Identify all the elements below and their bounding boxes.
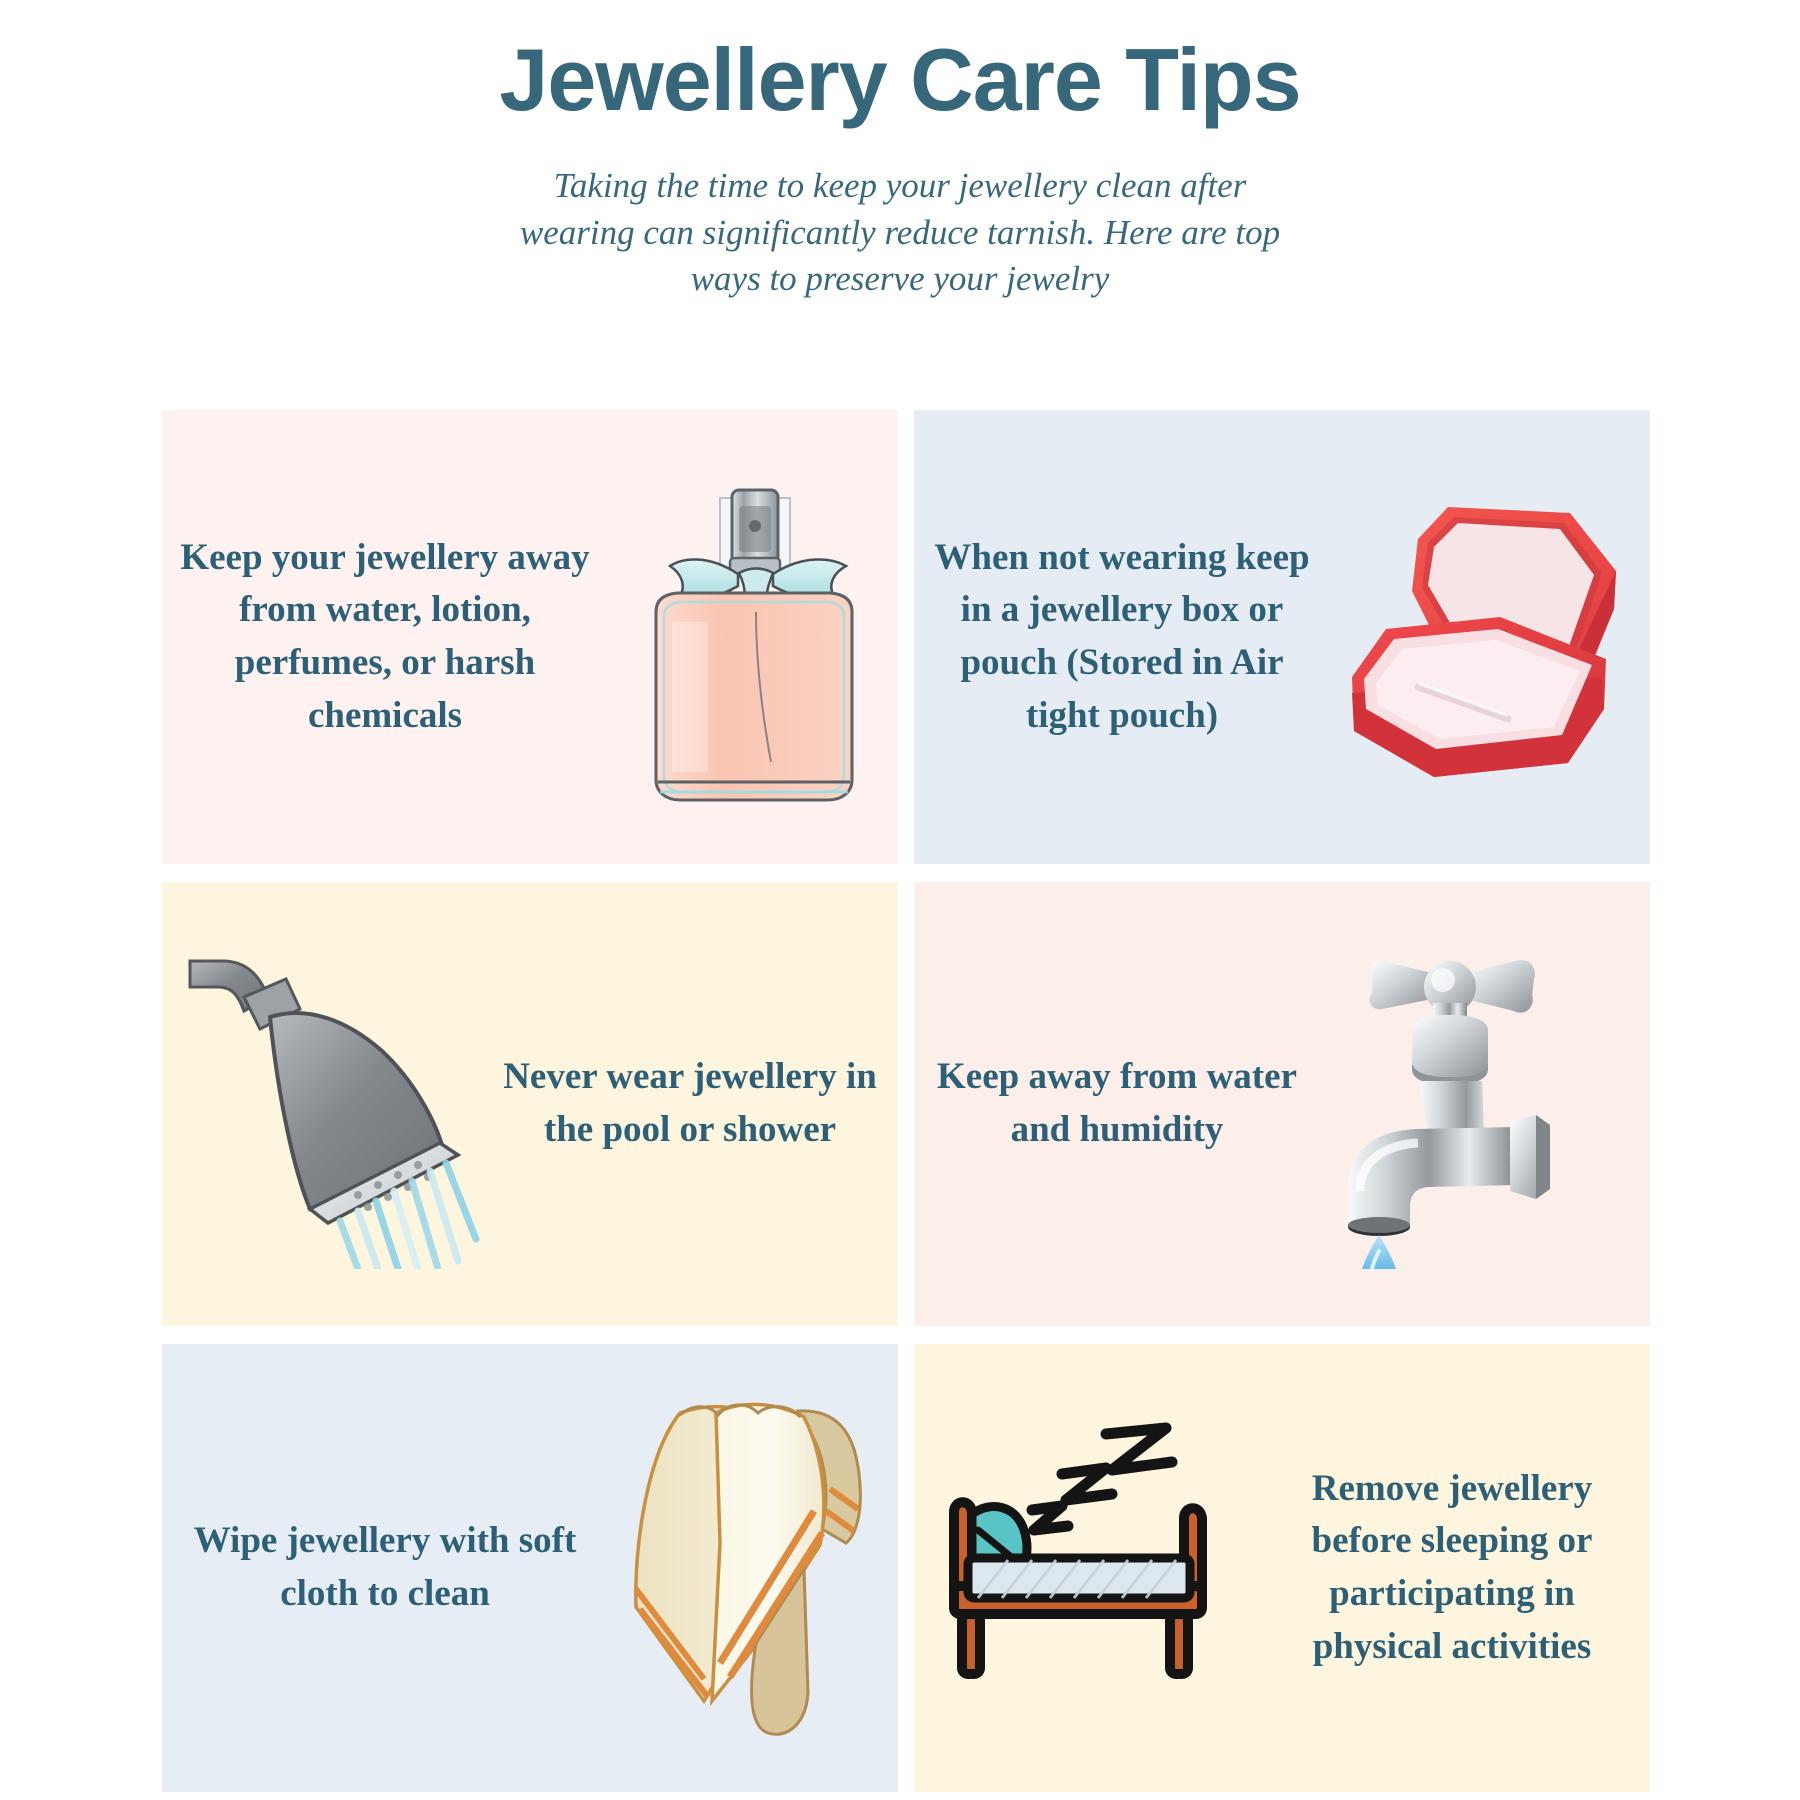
tips-grid: Keep your jewellery away from water, lot… [162,410,1640,1792]
tip-card-sleeping[interactable]: Remove jewellery before sleeping or part… [914,1344,1650,1792]
tip-card-pool-shower[interactable]: Never wear jewellery in the pool or show… [162,882,898,1326]
page-title: Jewellery Care Tips [0,0,1800,127]
tip-card-chemicals-label: Keep your jewellery away from water, lot… [162,532,608,742]
cloth-icon [608,1393,898,1743]
infographic-page: Jewellery Care Tips Taking the time to k… [0,0,1800,1800]
tip-card-pool-shower-label: Never wear jewellery in the pool or show… [482,1051,898,1156]
tip-card-sleeping-label: Remove jewellery before sleeping or part… [1254,1463,1650,1673]
shower-head-icon [182,939,482,1269]
tip-card-storage-label: When not wearing keep in a jewellery box… [914,532,1330,742]
tip-card-humidity-label: Keep away from water and humidity [914,1051,1320,1156]
ring-box-icon [1330,487,1640,787]
tip-card-wipe-cloth[interactable]: Wipe jewellery with soft cloth to clean [162,1344,898,1792]
page-subtitle: Taking the time to keep your jewellery c… [500,127,1300,303]
tip-card-humidity[interactable]: Keep away from water and humidity [914,882,1650,1326]
bed-zzz-icon [934,1418,1254,1718]
perfume-bottle-icon [608,462,898,812]
header: Jewellery Care Tips Taking the time to k… [0,0,1800,303]
tip-card-wipe-cloth-label: Wipe jewellery with soft cloth to clean [162,1515,608,1620]
tip-card-storage[interactable]: When not wearing keep in a jewellery box… [914,410,1650,864]
faucet-icon [1320,939,1620,1269]
tip-card-chemicals[interactable]: Keep your jewellery away from water, lot… [162,410,898,864]
